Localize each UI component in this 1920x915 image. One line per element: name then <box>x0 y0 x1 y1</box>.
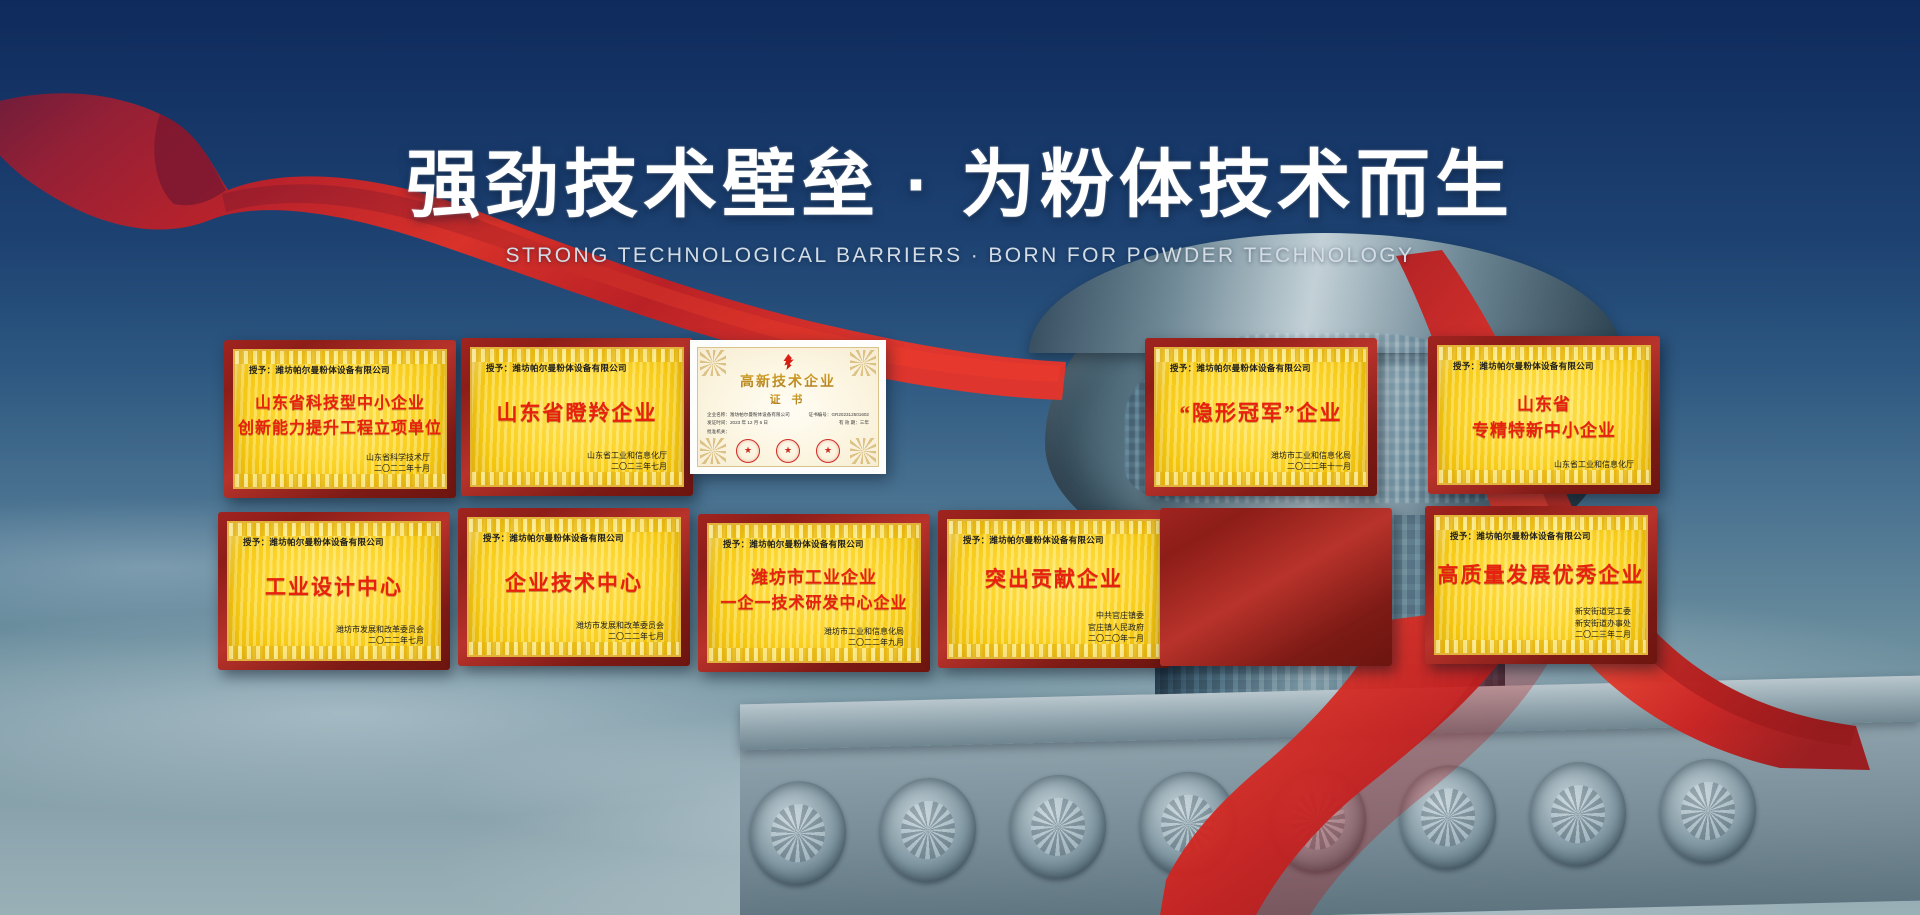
plaque-title-line: 突出贡献企业 <box>985 563 1123 593</box>
plaque-issuer: 潍坊市工业和信息化局 二〇二二年九月 <box>721 626 904 649</box>
plaque-face: 授予：潍坊帕尔曼粉体设备有限公司 山东省瞪羚企业 山东省工业和信息化厅 二〇二三… <box>470 347 684 487</box>
plaque-award-line: 授予：潍坊帕尔曼粉体设备有限公司 <box>1170 362 1354 374</box>
plaque-issuer-line: 二〇二二年十一月 <box>1168 461 1351 473</box>
plaque-title-line: 山东省 <box>1517 390 1571 415</box>
plaque-title: “隐形冠军”企业 <box>1168 374 1354 450</box>
plaque-title-line: 专精特新中小企业 <box>1472 416 1616 441</box>
plaque-issuer-line: 山东省工业和信息化厅 <box>1451 459 1634 471</box>
plaque-title: 山东省 专精特新中小企业 <box>1451 372 1637 459</box>
plaque-face: 授予：潍坊帕尔曼粉体设备有限公司 “隐形冠军”企业 潍坊市工业和信息化局 二〇二… <box>1154 347 1368 487</box>
plaque-issuer-line: 二〇二三年二月 <box>1448 629 1631 641</box>
plaque-award-line: 授予：潍坊帕尔曼粉体设备有限公司 <box>249 364 433 376</box>
seal-icon <box>816 439 840 463</box>
plaque-face: 授予：潍坊帕尔曼粉体设备有限公司 突出贡献企业 中共官庄镇委 官庄镇人民政府 二… <box>947 519 1161 659</box>
plaque-issuer-line: 二〇二二年十月 <box>247 463 430 475</box>
flame-icon <box>780 354 796 370</box>
certificate-field-right: 证书编号：GR202312501602 <box>808 411 869 419</box>
plaque-award-line: 授予：潍坊帕尔曼粉体设备有限公司 <box>723 538 907 550</box>
plaque-award-line: 授予：潍坊帕尔曼粉体设备有限公司 <box>486 362 670 374</box>
plaque-issuer-line: 潍坊市工业和信息化局 <box>1168 450 1351 462</box>
plaque-high-quality-development[interactable]: 授予：潍坊帕尔曼粉体设备有限公司 高质量发展优秀企业 新安街道党工委 新安街道办… <box>1425 506 1657 664</box>
certificate-field-row: 发证时间：2023 年 12 月 6 日 有 效 期：三年 <box>707 419 869 427</box>
plaque-face: 授予：潍坊帕尔曼粉体设备有限公司 高质量发展优秀企业 新安街道党工委 新安街道办… <box>1434 515 1648 655</box>
plaque-title-line: 高质量发展优秀企业 <box>1438 559 1645 589</box>
high-tech-enterprise-certificate[interactable]: 高新技术企业 证 书 企业名称：潍坊帕尔曼粉体设备有限公司 证书编号：GR202… <box>690 340 886 474</box>
plaque-issuer-line: 潍坊市工业和信息化局 <box>721 626 904 638</box>
plaque-title: 突出贡献企业 <box>961 546 1147 610</box>
plaque-issuer-line: 二〇二二年七月 <box>241 635 424 647</box>
certificate-field-left: 企业名称：潍坊帕尔曼粉体设备有限公司 <box>707 411 790 419</box>
plaque-title: 企业技术中心 <box>481 544 667 620</box>
plaque-face: 授予：潍坊帕尔曼粉体设备有限公司 山东省 专精特新中小企业 山东省工业和信息化厅 <box>1437 345 1651 485</box>
honors-grid: 授予：潍坊帕尔曼粉体设备有限公司 山东省科技型中小企业 创新能力提升工程立项单位… <box>0 0 1920 915</box>
plaque-issuer-line: 潍坊市发展和改革委员会 <box>481 620 664 632</box>
plaque-issuer-line: 山东省科学技术厅 <box>247 452 430 464</box>
plaque-title-line: 企业技术中心 <box>505 567 643 597</box>
plaque-title-line: 山东省瞪羚企业 <box>497 397 658 427</box>
plaque-issuer-line: 官庄镇人民政府 <box>961 622 1144 634</box>
certificate-subtitle: 证 书 <box>770 391 807 407</box>
certificate-fields: 企业名称：潍坊帕尔曼粉体设备有限公司 证书编号：GR202312501602 发… <box>698 411 878 436</box>
plaque-face: 授予：潍坊帕尔曼粉体设备有限公司 潍坊市工业企业 一企一技术研发中心企业 潍坊市… <box>707 523 921 663</box>
plaque-title: 山东省瞪羚企业 <box>484 374 670 450</box>
plaque-title-line: 创新能力提升工程立项单位 <box>238 414 442 438</box>
plaque-issuer-line: 山东省工业和信息化厅 <box>484 450 667 462</box>
plaque-award-line: 授予：潍坊帕尔曼粉体设备有限公司 <box>1450 530 1634 542</box>
certificate-field-left: 发证时间：2023 年 12 月 6 日 <box>707 419 768 427</box>
corner-ornament-icon <box>700 350 726 376</box>
plaque-issuer: 山东省科学技术厅 二〇二二年十月 <box>247 452 430 475</box>
plaque-face: 授予：潍坊帕尔曼粉体设备有限公司 企业技术中心 潍坊市发展和改革委员会 二〇二二… <box>467 517 681 657</box>
plaque-specialized-new-sme[interactable]: 授予：潍坊帕尔曼粉体设备有限公司 山东省 专精特新中小企业 山东省工业和信息化厅 <box>1428 336 1660 494</box>
plaque-issuer-line: 中共官庄镇委 <box>961 610 1144 622</box>
seal-icon <box>736 439 760 463</box>
certificate-field-row: 企业名称：潍坊帕尔曼粉体设备有限公司 证书编号：GR202312501602 <box>707 411 869 419</box>
plaque-title: 高质量发展优秀企业 <box>1448 542 1634 606</box>
plaque-issuer: 潍坊市发展和改革委员会 二〇二二年七月 <box>481 620 664 643</box>
plaque-hidden-champion[interactable]: 授予：潍坊帕尔曼粉体设备有限公司 “隐形冠军”企业 潍坊市工业和信息化局 二〇二… <box>1145 338 1377 496</box>
plaque-issuer-line: 新安街道办事处 <box>1448 618 1631 630</box>
plaque-issuer-line: 潍坊市发展和改革委员会 <box>241 624 424 636</box>
plaque-issuer-line: 二〇二二年九月 <box>721 637 904 649</box>
plaque-title: 山东省科技型中小企业 创新能力提升工程立项单位 <box>247 376 433 452</box>
seal-icon <box>776 439 800 463</box>
plaque-award-line: 授予：潍坊帕尔曼粉体设备有限公司 <box>963 534 1147 546</box>
plaque-shandong-tech-sme[interactable]: 授予：潍坊帕尔曼粉体设备有限公司 山东省科技型中小企业 创新能力提升工程立项单位… <box>224 340 456 498</box>
plaque-shandong-gazelle[interactable]: 授予：潍坊帕尔曼粉体设备有限公司 山东省瞪羚企业 山东省工业和信息化厅 二〇二三… <box>461 338 693 496</box>
plaque-title: 工业设计中心 <box>241 548 427 624</box>
plaque-issuer: 中共官庄镇委 官庄镇人民政府 二〇二〇年一月 <box>961 610 1144 645</box>
plaque-issuer-line: 二〇二二年七月 <box>481 631 664 643</box>
plaque-title-line: 潍坊市工业企业 <box>751 563 877 588</box>
certificate-field-row: 批准机关： <box>707 428 869 436</box>
plaque-enterprise-tech-center[interactable]: 授予：潍坊帕尔曼粉体设备有限公司 企业技术中心 潍坊市发展和改革委员会 二〇二二… <box>458 508 690 666</box>
certificate-title: 高新技术企业 <box>740 371 836 391</box>
plaque-title-line: 山东省科技型中小企业 <box>255 389 425 413</box>
plaque-outstanding-contribution[interactable]: 授予：潍坊帕尔曼粉体设备有限公司 突出贡献企业 中共官庄镇委 官庄镇人民政府 二… <box>938 510 1170 668</box>
corner-ornament-icon <box>700 438 726 464</box>
plaque-award-line: 授予：潍坊帕尔曼粉体设备有限公司 <box>243 536 427 548</box>
plaque-issuer-line: 二〇二〇年一月 <box>961 633 1144 645</box>
plaque-issuer-line: 新安街道党工委 <box>1448 606 1631 618</box>
plaque-award-line: 授予：潍坊帕尔曼粉体设备有限公司 <box>483 532 667 544</box>
plaque-issuer: 山东省工业和信息化厅 <box>1451 459 1634 471</box>
plaque-one-enterprise-one-tech-rd-center[interactable]: 授予：潍坊帕尔曼粉体设备有限公司 潍坊市工业企业 一企一技术研发中心企业 潍坊市… <box>698 514 930 672</box>
plaque-award-line: 授予：潍坊帕尔曼粉体设备有限公司 <box>1453 360 1637 372</box>
plaque-face: 授予：潍坊帕尔曼粉体设备有限公司 工业设计中心 潍坊市发展和改革委员会 二〇二二… <box>227 521 441 661</box>
plaque-face: 授予：潍坊帕尔曼粉体设备有限公司 山东省科技型中小企业 创新能力提升工程立项单位… <box>233 349 447 489</box>
plaque-issuer: 山东省工业和信息化厅 二〇二三年七月 <box>484 450 667 473</box>
plaque-title-line: 工业设计中心 <box>265 571 403 601</box>
plaque-issuer: 新安街道党工委 新安街道办事处 二〇二三年二月 <box>1448 606 1631 641</box>
plaque-title: 潍坊市工业企业 一企一技术研发中心企业 <box>721 550 907 626</box>
corner-ornament-icon <box>850 438 876 464</box>
plaque-issuer: 潍坊市发展和改革委员会 二〇二二年七月 <box>241 624 424 647</box>
certificate-frame: 高新技术企业 证 书 企业名称：潍坊帕尔曼粉体设备有限公司 证书编号：GR202… <box>697 347 879 467</box>
plaque-issuer-line: 二〇二三年七月 <box>484 461 667 473</box>
certificate-field-left: 批准机关： <box>707 428 730 436</box>
certificate-field-right: 有 效 期：三年 <box>839 419 869 427</box>
plaque-outstanding-contribution-main[interactable] <box>1160 508 1392 666</box>
plaque-title-line: 一企一技术研发中心企业 <box>721 589 908 613</box>
corner-ornament-icon <box>850 350 876 376</box>
plaque-title-line: “隐形冠军”企业 <box>1180 397 1343 427</box>
plaque-issuer: 潍坊市工业和信息化局 二〇二二年十一月 <box>1168 450 1351 473</box>
plaque-industrial-design-center[interactable]: 授予：潍坊帕尔曼粉体设备有限公司 工业设计中心 潍坊市发展和改革委员会 二〇二二… <box>218 512 450 670</box>
banner-stage: 强劲技术壁垒 · 为粉体技术而生 STRONG TECHNOLOGICAL BA… <box>0 0 1920 915</box>
